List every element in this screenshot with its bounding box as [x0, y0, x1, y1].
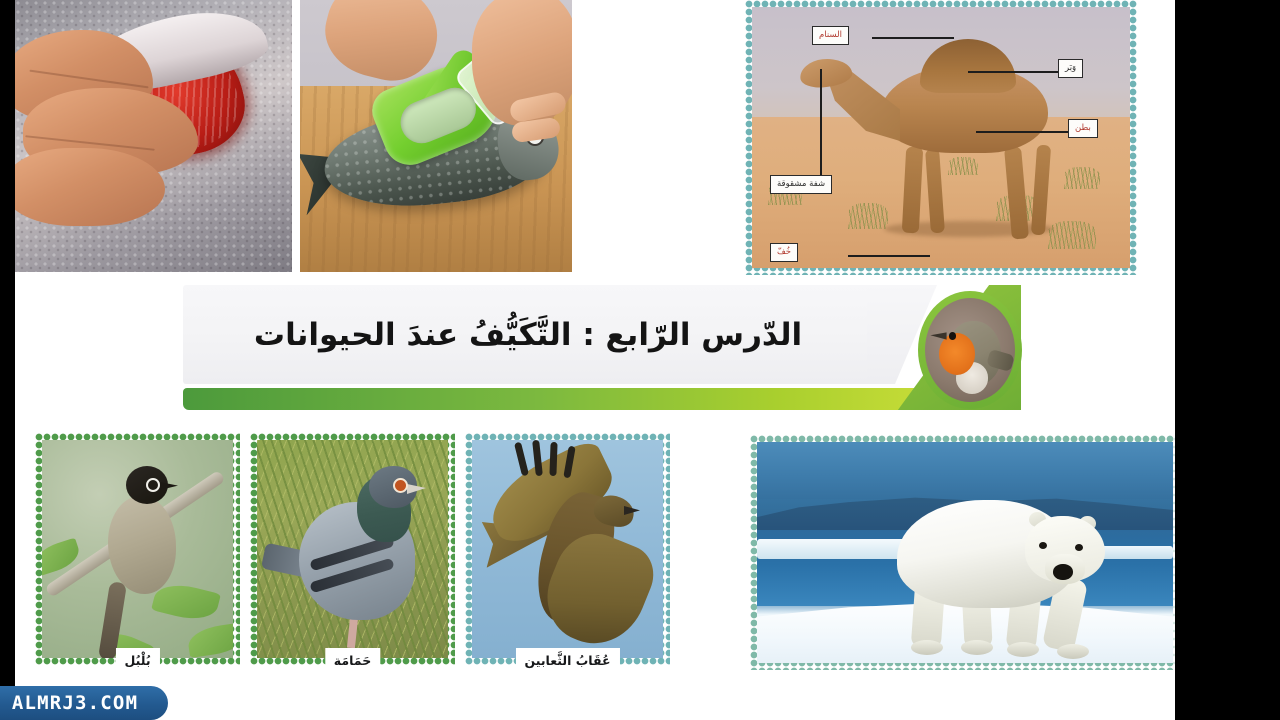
letterbox-left [0, 0, 15, 720]
bear-paw [961, 640, 993, 655]
bear-paw [911, 640, 943, 655]
dove-frame [250, 433, 455, 665]
grass-tuft [948, 157, 978, 175]
label-fur: وَبَر [1058, 59, 1083, 78]
watermark-text: ALMRJ3.COM [12, 692, 138, 714]
robin-badge [918, 291, 1022, 409]
lesson-title-banner: الدّرس الرّابع : التَّكَيُّفُ عندَ الحيو… [183, 285, 1021, 413]
leader-line-fur [968, 71, 1064, 73]
fish-gills-photo [15, 0, 292, 272]
eagle-primary-feather [549, 442, 557, 476]
camel-adaptation-diagram: السنام وَبَر بطن شفة مشقوقة خُفّ [745, 0, 1137, 275]
bulbul-card: بُلْبُل [35, 433, 240, 665]
bulbul-body [108, 496, 176, 594]
bear-eye-right [1075, 544, 1083, 551]
polar-bear-photo [750, 435, 1180, 670]
bear-nose [1053, 564, 1073, 580]
dove-caption: حَمَامَة [325, 648, 380, 673]
bear-paw [1057, 644, 1089, 659]
snake-eagle-frame [465, 433, 670, 665]
banner-green-bar [183, 388, 975, 410]
label-foot-pad: خُفّ [770, 243, 798, 262]
leader-line-hump [872, 37, 954, 39]
label-belly: بطن [1068, 119, 1098, 138]
fish-scaling-photo [300, 0, 572, 272]
slide-canvas: السنام وَبَر بطن شفة مشقوقة خُفّ الدّرس … [0, 0, 1280, 720]
grass-tuft [1064, 167, 1100, 189]
leader-line-lip [820, 69, 822, 181]
leader-line-foot [848, 255, 930, 257]
letterbox-right [1175, 0, 1280, 720]
page-title: الدّرس الرّابع : التَّكَيُّفُ عندَ الحيو… [183, 285, 873, 384]
dove-eye [393, 478, 408, 493]
bear-eye-left [1039, 542, 1047, 549]
snake-eagle-card: عُقَابُ الثَّعابين [465, 433, 670, 665]
bulbul-caption: بُلْبُل [115, 648, 159, 673]
dove-card: حَمَامَة [250, 433, 455, 665]
arctic-sky [757, 442, 1173, 499]
label-split-lip: شفة مشقوقة [770, 175, 832, 194]
label-hump: السنام [812, 26, 849, 45]
snake-eagle-caption: عُقَابُ الثَّعابين [515, 648, 619, 673]
robin-bird-photo [925, 298, 1015, 402]
bulbul-eye [146, 478, 160, 492]
grass-tuft [1048, 221, 1096, 249]
leader-line-belly [976, 131, 1072, 133]
hand-lower [15, 148, 165, 226]
robin-beak [930, 332, 946, 339]
site-watermark: ALMRJ3.COM [0, 686, 168, 720]
bear-paw [1007, 642, 1039, 657]
bulbul-frame [35, 433, 240, 665]
grass-tuft [848, 203, 888, 229]
